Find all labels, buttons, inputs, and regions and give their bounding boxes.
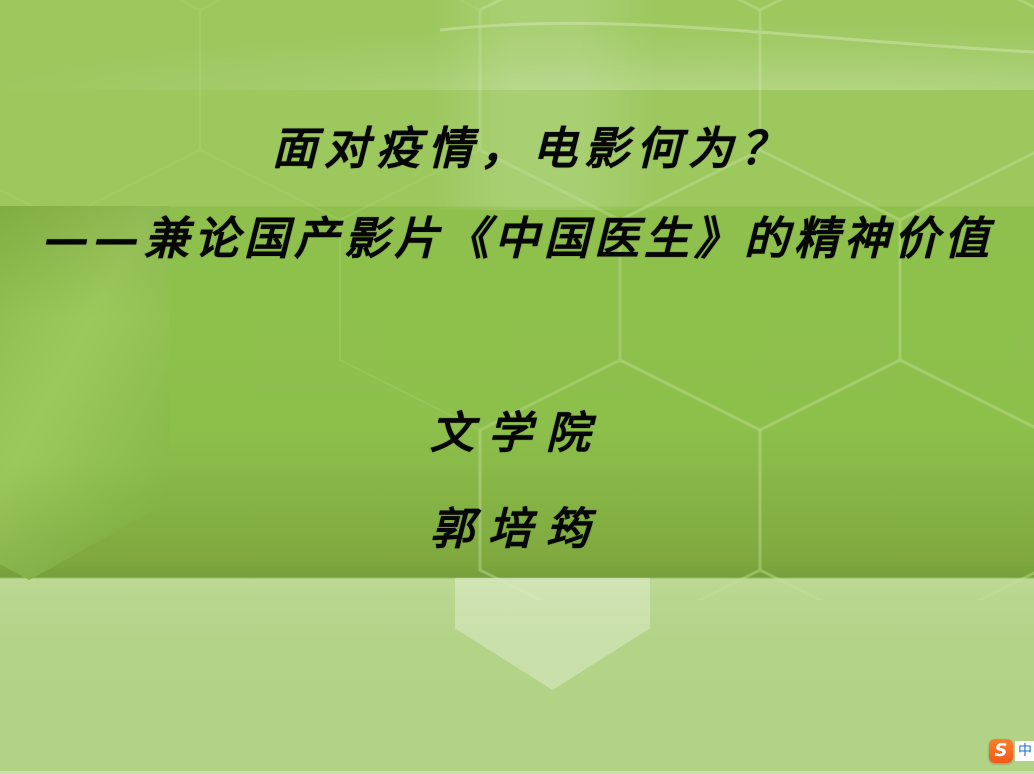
author-name: 郭培筠 <box>430 508 604 552</box>
author-affiliation: 文学院 <box>430 412 604 456</box>
presentation-slide: 面对疫情，电影何为？ ——兼论国产影片《中国医生》的精神价值 文学院 郭培筠 S… <box>0 0 1034 774</box>
slide-title: 面对疫情，电影何为？ <box>272 126 792 171</box>
slide-subtitle: ——兼论国产影片《中国医生》的精神价值 <box>44 216 994 261</box>
